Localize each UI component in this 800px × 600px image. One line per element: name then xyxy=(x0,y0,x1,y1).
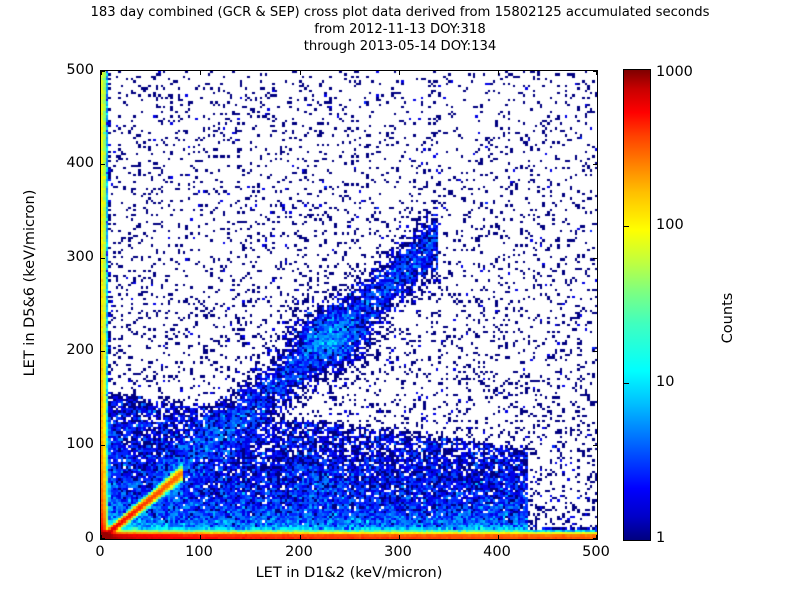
xtick-top-200 xyxy=(300,71,301,75)
xtick-bottom-100 xyxy=(200,535,201,539)
xticklabel-400: 400 xyxy=(483,544,511,560)
yticklabel-100: 100 xyxy=(66,436,94,452)
yticklabel-0: 0 xyxy=(85,530,94,546)
ytick-left-500 xyxy=(101,71,105,72)
ytick-right-500 xyxy=(593,71,597,72)
ytick-right-0 xyxy=(593,538,597,539)
colorbar-label-1: 1 xyxy=(656,530,665,546)
xtick-bottom-200 xyxy=(300,535,301,539)
colorbar-label-1000: 1000 xyxy=(656,64,693,80)
y-axis-label: LET in D5&6 (keV/micron) xyxy=(22,133,38,433)
yticklabel-500: 500 xyxy=(66,62,94,78)
figure-canvas: 183 day combined (GCR & SEP) cross plot … xyxy=(0,0,800,600)
ytick-right-200 xyxy=(593,351,597,352)
xtick-bottom-300 xyxy=(399,535,400,539)
title-line-3: through 2013-05-14 DOY:134 xyxy=(0,38,800,55)
title-line-2: from 2012-11-13 DOY:318 xyxy=(0,21,800,38)
plot-area xyxy=(100,70,598,540)
xtick-top-400 xyxy=(498,71,499,75)
colorbar-title: Counts xyxy=(720,218,736,418)
xticklabel-0: 0 xyxy=(95,544,104,560)
colorbar-label-100: 100 xyxy=(656,217,684,233)
colorbar-tick-10 xyxy=(624,383,629,384)
xticklabel-100: 100 xyxy=(185,544,213,560)
ytick-right-100 xyxy=(593,445,597,446)
ytick-left-0 xyxy=(101,538,105,539)
xticklabel-500: 500 xyxy=(582,544,610,560)
colorbar xyxy=(623,69,651,541)
x-axis-label: LET in D1&2 (keV/micron) xyxy=(100,565,598,581)
yticklabel-400: 400 xyxy=(66,155,94,171)
colorbar-label-10: 10 xyxy=(656,374,674,390)
ytick-left-200 xyxy=(101,351,105,352)
ytick-left-100 xyxy=(101,445,105,446)
xtick-bottom-400 xyxy=(498,535,499,539)
xticklabel-200: 200 xyxy=(285,544,313,560)
xticklabel-300: 300 xyxy=(384,544,412,560)
figure-title: 183 day combined (GCR & SEP) cross plot … xyxy=(0,4,800,55)
ytick-right-400 xyxy=(593,164,597,165)
yticklabel-300: 300 xyxy=(66,249,94,265)
ytick-left-400 xyxy=(101,164,105,165)
yticklabel-200: 200 xyxy=(66,342,94,358)
colorbar-tick-100 xyxy=(624,226,629,227)
density-scatter-plot xyxy=(101,71,597,539)
ytick-right-300 xyxy=(593,258,597,259)
title-line-1: 183 day combined (GCR & SEP) cross plot … xyxy=(0,4,800,21)
ytick-left-300 xyxy=(101,258,105,259)
colorbar-gradient xyxy=(624,70,650,540)
xtick-top-100 xyxy=(200,71,201,75)
xtick-top-300 xyxy=(399,71,400,75)
